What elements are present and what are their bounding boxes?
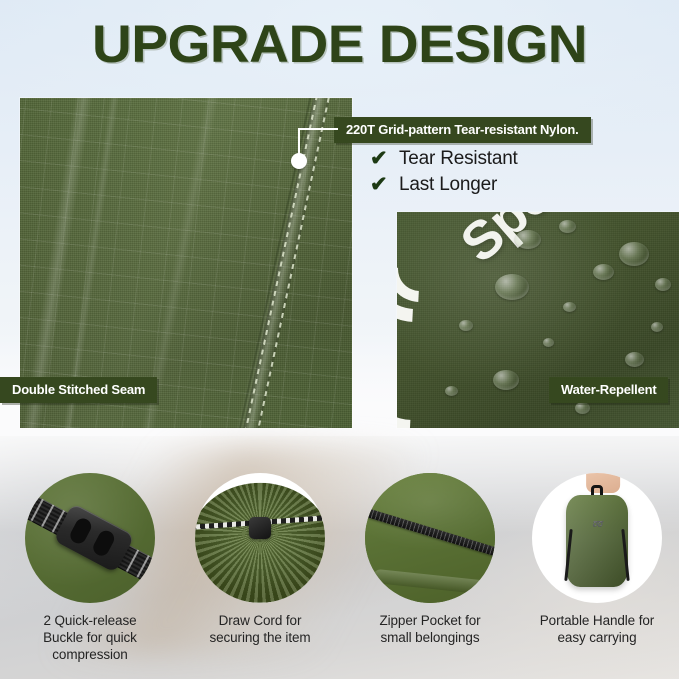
callout-leader-horizontal <box>298 128 338 130</box>
water-droplet <box>655 278 671 291</box>
draw-cord-icon <box>195 473 325 603</box>
feature-bullet-list: ✔ Tear Resistant ✔ Last Longer <box>370 148 518 200</box>
compression-sack <box>566 495 628 587</box>
check-icon: ✔ <box>370 148 394 169</box>
water-droplet <box>493 370 519 390</box>
water-droplet <box>459 320 473 331</box>
water-droplet <box>495 274 529 300</box>
water-droplet <box>543 338 554 347</box>
feature-caption: Draw Cord forsecuring the item <box>175 612 345 646</box>
cinched-fabric <box>195 483 325 603</box>
water-droplet <box>651 322 663 332</box>
water-droplet <box>563 302 576 312</box>
list-item: ✔ Last Longer <box>370 174 518 196</box>
water-repellent-badge: Water-Repellent <box>549 377 668 403</box>
water-droplet <box>619 242 649 266</box>
feature-caption: Zipper Pocket forsmall belongings <box>345 612 515 646</box>
cord-lock <box>249 517 271 539</box>
water-droplet <box>559 220 576 233</box>
feature-buckle: 2 Quick-releaseBuckle for quickcompressi… <box>5 473 175 663</box>
bullet-label: Tear Resistant <box>399 148 518 170</box>
sack-brand-logo: ➿ <box>577 519 617 531</box>
double-stitched-seam-badge: Double Stitched Seam <box>0 377 157 403</box>
feature-zipper-pocket: Zipper Pocket forsmall belongings <box>345 473 515 646</box>
page-title: UPGRADE DESIGN <box>0 17 679 73</box>
buckle-icon <box>25 473 155 603</box>
list-item: ✔ Tear Resistant <box>370 148 518 170</box>
bullet-label: Last Longer <box>399 174 497 196</box>
callout-anchor-dot <box>291 153 307 169</box>
handle-icon: ➿ <box>532 473 662 603</box>
check-icon: ✔ <box>370 174 394 195</box>
feature-caption: 2 Quick-releaseBuckle for quickcompressi… <box>5 612 175 663</box>
water-droplet <box>445 386 458 396</box>
nylon-callout-badge: 220T Grid-pattern Tear-resistant Nylon. <box>334 117 591 143</box>
infographic-page: UPGRADE DESIGN Sportneer® <box>0 0 679 679</box>
water-droplet <box>515 230 541 249</box>
feature-draw-cord: Draw Cord forsecuring the item <box>175 473 345 646</box>
feature-portable-handle: ➿ Portable Handle foreasy carrying <box>512 473 679 646</box>
water-droplet <box>575 402 590 414</box>
water-droplet <box>625 352 644 367</box>
feature-caption: Portable Handle foreasy carrying <box>512 612 679 646</box>
water-droplet <box>593 264 614 280</box>
zipper-icon <box>365 473 495 603</box>
